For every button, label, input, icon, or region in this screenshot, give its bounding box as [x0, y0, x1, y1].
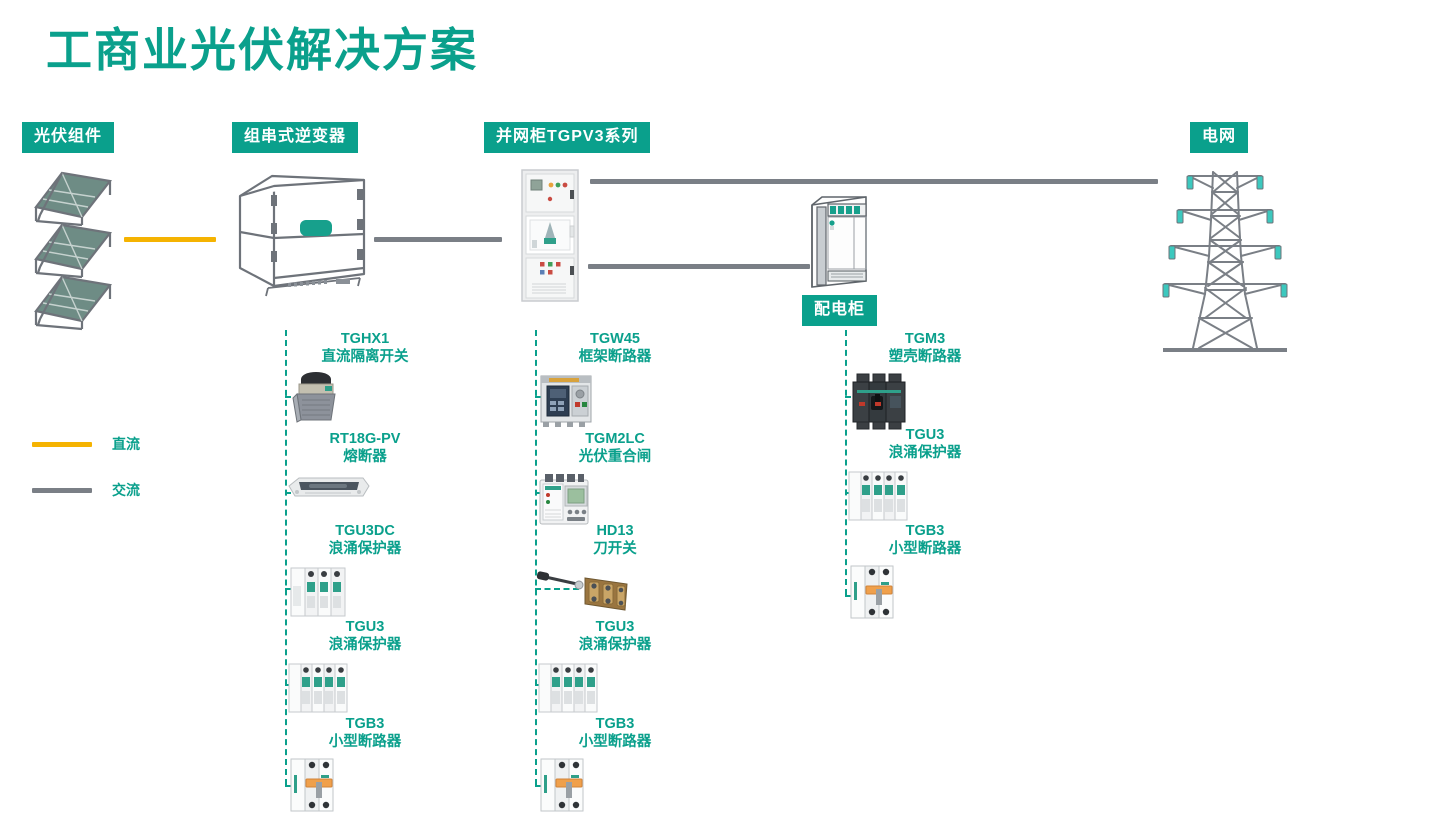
device-code: TGHX1 [285, 330, 445, 348]
device-item[interactable]: TGM2LC 光伏重合闸 [535, 430, 695, 528]
grid-connection-cabinet-icon [520, 168, 580, 303]
device-name: 熔断器 [285, 448, 445, 466]
device-code: TGU3 [845, 426, 1005, 444]
device-code: TGB3 [285, 715, 445, 733]
device-code: TGM3 [845, 330, 1005, 348]
device-name: 浪涌保护器 [285, 540, 445, 558]
device-name: 框架断路器 [535, 348, 695, 366]
dc-isolator-switch-icon [285, 370, 445, 426]
solar-panel-array-icon [24, 165, 124, 325]
stage-badge-inverter[interactable]: 组串式逆变器 [232, 122, 358, 153]
legend-label-ac: 交流 [112, 480, 140, 500]
mcb-2pole-icon [845, 562, 1005, 622]
flowline-ac-cabinet-to-distribution [588, 264, 810, 269]
spd-4pole-icon [535, 658, 695, 716]
device-name: 浪涌保护器 [535, 636, 695, 654]
device-name: 刀开关 [535, 540, 695, 558]
legend-item-ac: 交流 [32, 480, 140, 500]
device-code: TGU3 [285, 618, 445, 636]
device-item[interactable]: TGU3 浪涌保护器 [285, 618, 445, 716]
device-item[interactable]: RT18G-PV 熔断器 [285, 430, 445, 502]
device-name: 塑壳断路器 [845, 348, 1005, 366]
flowline-dc-panels-to-inverter [124, 237, 216, 242]
device-code: TGU3DC [285, 522, 445, 540]
mcb-2pole-icon [285, 755, 445, 815]
string-inverter-icon [232, 168, 372, 303]
device-name: 直流隔离开关 [285, 348, 445, 366]
legend-swatch-ac-icon [32, 488, 92, 493]
device-item[interactable]: TGW45 框架断路器 [535, 330, 695, 428]
transmission-tower-icon [1155, 158, 1295, 358]
flowline-ac-cabinet-to-grid [590, 179, 1158, 184]
device-name: 小型断路器 [285, 733, 445, 751]
device-name: 小型断路器 [845, 540, 1005, 558]
mcb-2pole-icon [535, 755, 695, 815]
device-item[interactable]: TGU3 浪涌保护器 [535, 618, 695, 716]
device-code: HD13 [535, 522, 695, 540]
device-code: TGU3 [535, 618, 695, 636]
solution-diagram-page: 工商业光伏解决方案 光伏组件 组串式逆变器 并网柜TGPV3系列 配电柜 电网 … [0, 0, 1436, 829]
device-code: TGB3 [845, 522, 1005, 540]
pv-recloser-icon [535, 470, 695, 528]
device-code: TGW45 [535, 330, 695, 348]
device-item[interactable]: TGB3 小型断路器 [535, 715, 695, 815]
device-item[interactable]: TGU3DC 浪涌保护器 [285, 522, 445, 620]
distribution-cabinet-icon [808, 193, 870, 289]
legend-label-dc: 直流 [112, 434, 140, 454]
device-item[interactable]: HD13 刀开关 [535, 522, 695, 616]
device-item[interactable]: TGB3 小型断路器 [845, 522, 1005, 622]
device-item[interactable]: TGB3 小型断路器 [285, 715, 445, 815]
stage-badge-distribution[interactable]: 配电柜 [802, 295, 877, 326]
device-name: 小型断路器 [535, 733, 695, 751]
knife-switch-icon [535, 562, 695, 616]
device-code: RT18G-PV [285, 430, 445, 448]
device-code: TGM2LC [535, 430, 695, 448]
device-name: 光伏重合闸 [535, 448, 695, 466]
legend-item-dc: 直流 [32, 434, 140, 454]
device-item[interactable]: TGM3 塑壳断路器 [845, 330, 1005, 430]
mccb-3pole-icon [845, 370, 1005, 430]
fuse-holder-icon [285, 470, 445, 502]
device-name: 浪涌保护器 [285, 636, 445, 654]
stage-badge-pv-modules[interactable]: 光伏组件 [22, 122, 114, 153]
air-circuit-breaker-icon [535, 370, 695, 428]
device-item[interactable]: TGHX1 直流隔离开关 [285, 330, 445, 426]
page-title: 工商业光伏解决方案 [46, 25, 478, 76]
spd-4pole-icon [845, 466, 1005, 524]
spd-3pole-icon [285, 562, 445, 620]
spd-4pole-icon [285, 658, 445, 716]
flowline-ac-inverter-to-cabinet [374, 237, 502, 242]
stage-badge-power-grid[interactable]: 电网 [1190, 122, 1248, 153]
device-name: 浪涌保护器 [845, 444, 1005, 462]
stage-badge-grid-cabinet[interactable]: 并网柜TGPV3系列 [484, 122, 650, 153]
legend-swatch-dc-icon [32, 442, 92, 447]
device-code: TGB3 [535, 715, 695, 733]
device-item[interactable]: TGU3 浪涌保护器 [845, 426, 1005, 524]
